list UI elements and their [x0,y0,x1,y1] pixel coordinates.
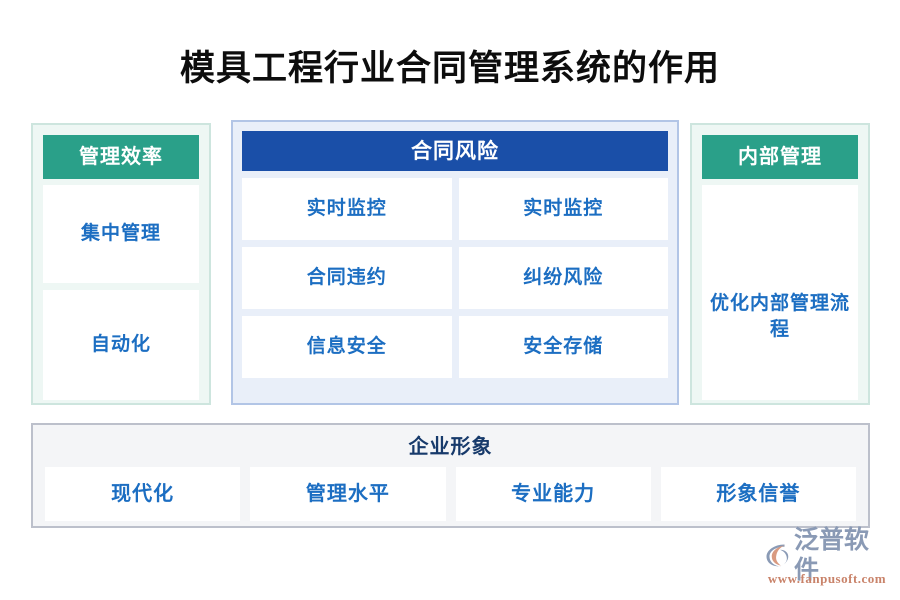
panel-contract-risk: 合同风险 实时监控 实时监控 合同违约 纠纷风险 信息安全 安全存储 [231,120,679,405]
card-center-5[interactable]: 信息安全 [242,316,452,378]
card-center-1[interactable]: 实时监控 [242,178,452,240]
panel-corporate-image: 企业形象 现代化 管理水平 专业能力 形象信誉 [31,423,870,528]
company-logo: 泛普软件 www.fanpusoft.com [762,540,892,588]
card-right-1[interactable]: 优化内部管理流程 [702,185,858,400]
card-center-3[interactable]: 合同违约 [242,247,452,309]
card-left-2[interactable]: 自动化 [43,290,199,400]
card-center-6[interactable]: 安全存储 [459,316,669,378]
logo-row: 泛普软件 [762,540,892,570]
panel-header-management-efficiency: 管理效率 [43,135,199,179]
card-bottom-4[interactable]: 形象信誉 [661,467,856,521]
card-bottom-1[interactable]: 现代化 [45,467,240,521]
logo-url: www.fanpusoft.com [762,571,892,587]
fanpu-logo-icon [762,540,792,570]
card-bottom-2[interactable]: 管理水平 [250,467,445,521]
panel-header-contract-risk: 合同风险 [242,131,668,171]
panel-header-internal-management: 内部管理 [702,135,858,179]
card-center-4[interactable]: 纠纷风险 [459,247,669,309]
contract-risk-card-grid: 实时监控 实时监控 合同违约 纠纷风险 信息安全 安全存储 [242,178,668,378]
page-title: 模具工程行业合同管理系统的作用 [0,47,900,91]
panel-management-efficiency: 管理效率 集中管理 自动化 [31,123,211,405]
card-bottom-3[interactable]: 专业能力 [456,467,651,521]
panel-header-corporate-image: 企业形象 [33,425,868,460]
card-left-1[interactable]: 集中管理 [43,185,199,283]
panel-internal-management: 内部管理 优化内部管理流程 [690,123,870,405]
card-center-2[interactable]: 实时监控 [459,178,669,240]
corporate-image-card-grid: 现代化 管理水平 专业能力 形象信誉 [45,467,856,521]
